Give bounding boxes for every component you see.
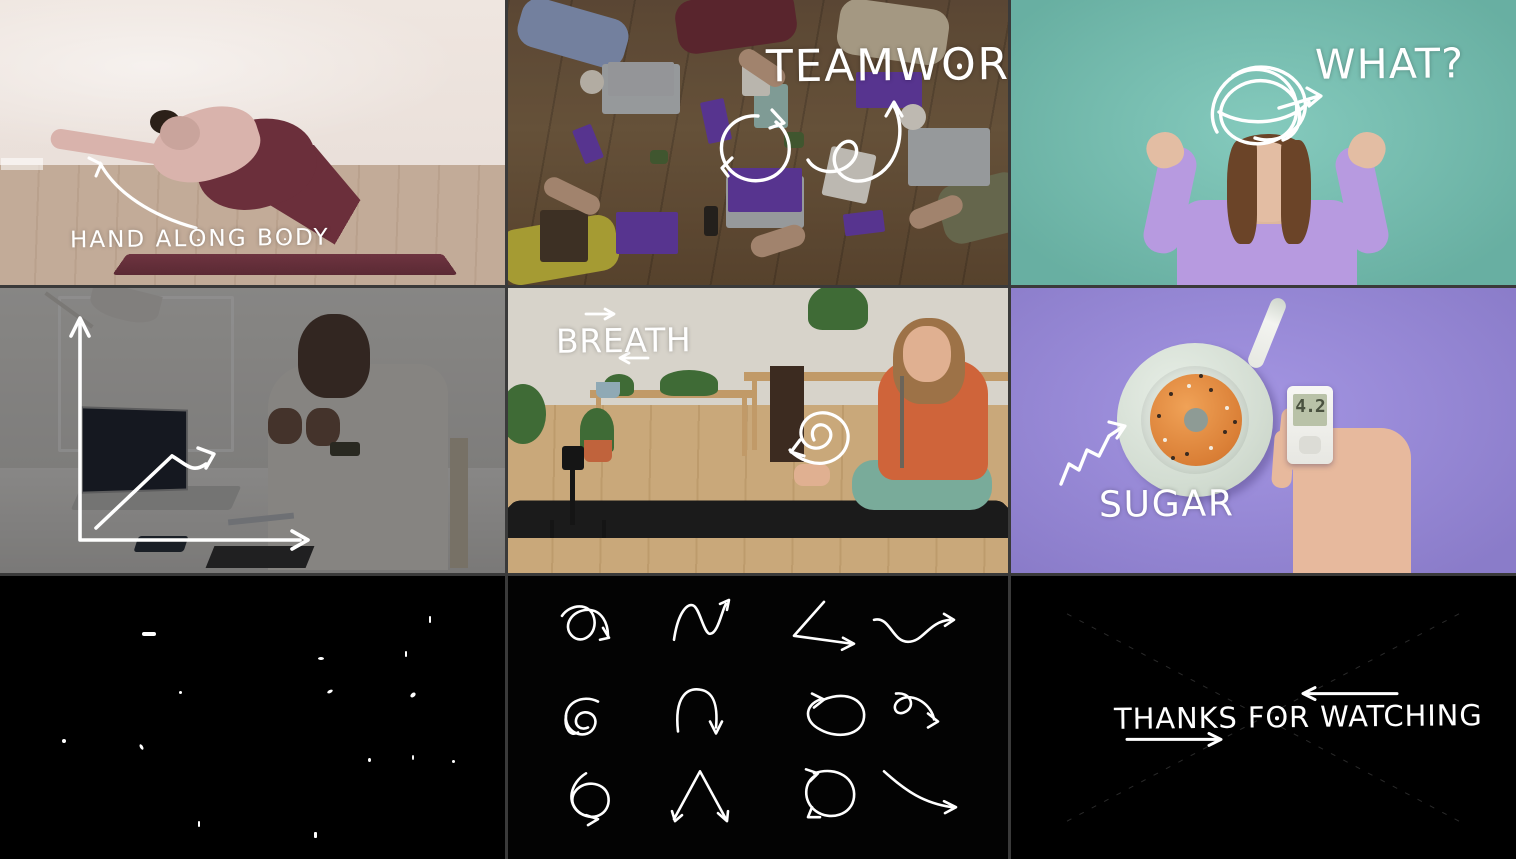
sprinkle xyxy=(1157,414,1161,418)
plant-hanging xyxy=(808,288,868,330)
panel-sugar[interactable]: 4.2 SUGAR xyxy=(1011,288,1516,573)
arrow-u-turn-down xyxy=(677,689,722,733)
arrow-circle-loop-left xyxy=(808,694,864,735)
back-table-leg xyxy=(752,380,757,450)
caption-teamwork: TEAMWORK xyxy=(766,43,1008,90)
sprinkle xyxy=(1233,420,1237,424)
sprinkle xyxy=(1209,388,1213,392)
caption-hand-along-body: HAND ALONG BODY xyxy=(70,227,330,253)
particle xyxy=(452,760,455,763)
panel-thanks[interactable]: THANKS FOR WATCHING xyxy=(1011,576,1516,859)
particle xyxy=(62,739,66,743)
sprinkle xyxy=(1169,392,1173,396)
terracotta-pot xyxy=(584,440,612,462)
particle xyxy=(412,755,414,760)
pot-blue xyxy=(596,382,620,398)
woman-head xyxy=(903,326,951,382)
panel-breath[interactable]: BREATH xyxy=(508,288,1008,573)
arrow-chevron-double-down xyxy=(672,771,728,821)
caption-breath: BREATH xyxy=(556,323,692,357)
particle xyxy=(314,832,317,838)
particle xyxy=(429,616,431,623)
tripod-legs xyxy=(550,520,606,538)
video-preview-grid: HAND ALONG BODY xyxy=(0,0,1516,859)
arrow-pack-grid xyxy=(508,576,1008,859)
hair-left xyxy=(1227,140,1257,244)
plant-shelf-center xyxy=(660,370,718,396)
arrow-loop-swirl-right xyxy=(562,606,609,639)
wooden-chair xyxy=(770,366,804,462)
sprinkle xyxy=(1209,446,1213,450)
shelf-leg-right xyxy=(742,398,747,456)
sprinkle xyxy=(1171,456,1175,460)
wall-socket xyxy=(1,158,43,170)
panel-arrow-pack[interactable] xyxy=(508,576,1008,859)
arrow-curl-right xyxy=(895,693,938,727)
particle xyxy=(142,632,156,636)
yoga-head xyxy=(160,116,200,150)
arrow-long-curve-right xyxy=(884,771,956,813)
caption-thanks-for-watching: THANKS FOR WATCHING xyxy=(1114,701,1483,734)
particle xyxy=(368,758,371,762)
hair-right xyxy=(1281,140,1311,244)
arrow-circular-refresh xyxy=(806,769,854,817)
tripod-pole xyxy=(570,463,575,525)
glucometer-button[interactable] xyxy=(1299,436,1321,454)
sprinkle xyxy=(1187,384,1191,388)
sprinkle xyxy=(1223,430,1227,434)
arrow-scribble-loop-right xyxy=(571,773,608,825)
caption-what: WHAT? xyxy=(1315,43,1465,86)
sprinkle xyxy=(1225,406,1229,410)
scene-dim-overlay xyxy=(0,288,505,573)
particle xyxy=(139,744,145,751)
donut-hole xyxy=(1184,408,1208,432)
arrow-spiral-left xyxy=(566,699,598,735)
woman-foot xyxy=(794,464,830,486)
panel-particles[interactable] xyxy=(0,576,505,859)
caption-sugar: SUGAR xyxy=(1099,486,1235,523)
chairs-background xyxy=(900,376,1008,468)
particle xyxy=(198,821,200,827)
particle xyxy=(179,691,182,694)
panel-yoga-side-angle[interactable]: HAND ALONG BODY xyxy=(0,0,505,285)
particle xyxy=(405,651,407,657)
panel-what-shrug[interactable]: WHAT? xyxy=(1011,0,1516,285)
arrow-wave-up-right xyxy=(874,614,954,642)
glucometer-reading: 4.2 xyxy=(1294,398,1326,416)
particle xyxy=(409,692,416,699)
particle xyxy=(318,657,324,660)
sprinkle xyxy=(1185,452,1189,456)
particle xyxy=(327,689,334,694)
sprinkle xyxy=(1199,374,1203,378)
arrow-zigzag-up xyxy=(674,600,729,640)
sprinkle xyxy=(1163,438,1167,442)
panel-profit[interactable]: PROF xyxy=(0,288,505,573)
arrow-bent-angle-right xyxy=(794,602,854,650)
panel-teamwork[interactable]: TEAMWORK xyxy=(508,0,1008,285)
